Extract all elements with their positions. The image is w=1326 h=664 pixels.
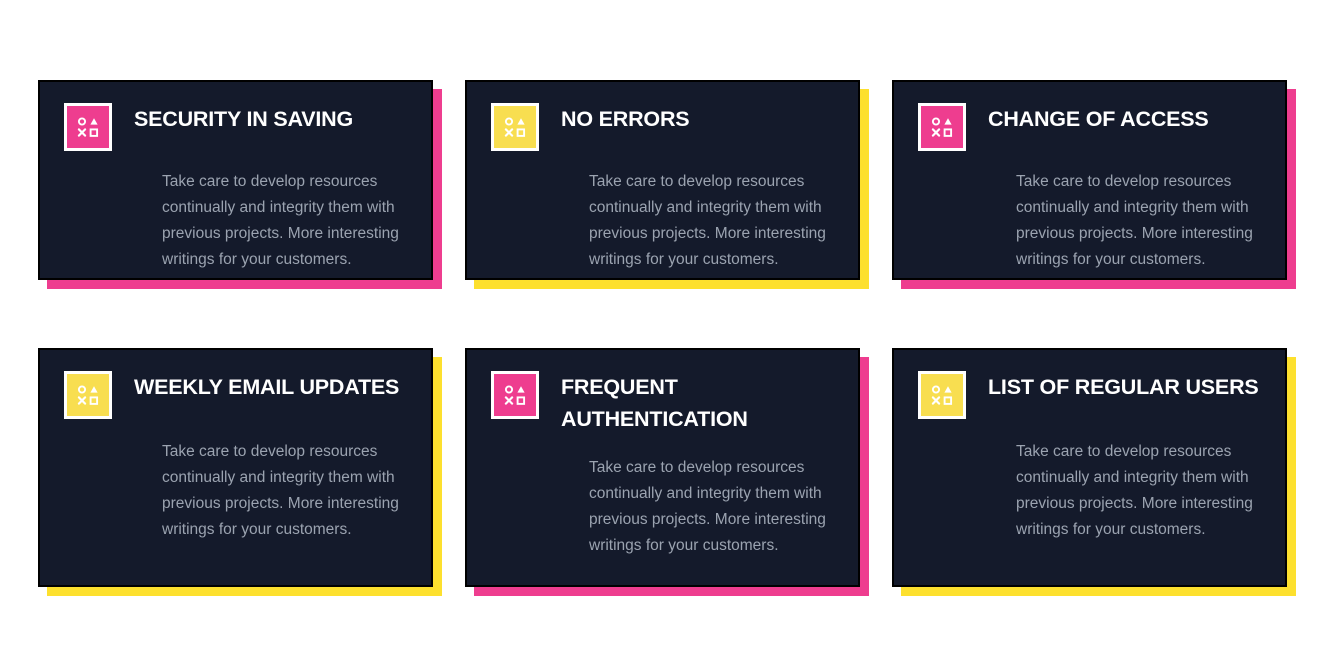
card-header: CHANGE OF ACCESS (918, 103, 1261, 151)
shapes-grid-icon (918, 103, 966, 151)
card-header: WEEKLY EMAIL UPDATES (64, 371, 407, 419)
card-title: FREQUENT AUTHENTICATION (561, 372, 834, 435)
card-title: CHANGE OF ACCESS (988, 104, 1209, 136)
feature-card-grid: SECURITY IN SAVING Take care to develop … (0, 0, 1326, 664)
card-surface[interactable]: CHANGE OF ACCESS Take care to develop re… (892, 80, 1287, 280)
card-header: LIST OF REGULAR USERS (918, 371, 1261, 419)
shapes-grid-icon (491, 371, 539, 419)
card-surface[interactable]: NO ERRORS Take care to develop resources… (465, 80, 860, 280)
card-description: Take care to develop resources continual… (491, 169, 834, 273)
card-description: Take care to develop resources continual… (918, 169, 1261, 273)
card-header: NO ERRORS (491, 103, 834, 151)
feature-card[interactable]: LIST OF REGULAR USERS Take care to devel… (892, 348, 1287, 587)
card-description: Take care to develop resources continual… (64, 439, 407, 543)
feature-card[interactable]: FREQUENT AUTHENTICATION Take care to dev… (465, 348, 860, 587)
card-description: Take care to develop resources continual… (491, 455, 834, 559)
shapes-grid-icon (491, 103, 539, 151)
feature-card[interactable]: WEEKLY EMAIL UPDATES Take care to develo… (38, 348, 433, 587)
card-surface[interactable]: LIST OF REGULAR USERS Take care to devel… (892, 348, 1287, 587)
shapes-grid-icon (64, 103, 112, 151)
card-title: WEEKLY EMAIL UPDATES (134, 372, 399, 404)
feature-card[interactable]: CHANGE OF ACCESS Take care to develop re… (892, 80, 1287, 280)
feature-card[interactable]: NO ERRORS Take care to develop resources… (465, 80, 860, 280)
card-header: SECURITY IN SAVING (64, 103, 407, 151)
card-title: NO ERRORS (561, 104, 689, 136)
card-title: SECURITY IN SAVING (134, 104, 353, 136)
shapes-grid-icon (918, 371, 966, 419)
card-title: LIST OF REGULAR USERS (988, 372, 1259, 404)
card-surface[interactable]: SECURITY IN SAVING Take care to develop … (38, 80, 433, 280)
card-surface[interactable]: WEEKLY EMAIL UPDATES Take care to develo… (38, 348, 433, 587)
shapes-grid-icon (64, 371, 112, 419)
card-header: FREQUENT AUTHENTICATION (491, 371, 834, 435)
feature-card[interactable]: SECURITY IN SAVING Take care to develop … (38, 80, 433, 280)
card-surface[interactable]: FREQUENT AUTHENTICATION Take care to dev… (465, 348, 860, 587)
card-description: Take care to develop resources continual… (64, 169, 407, 273)
card-description: Take care to develop resources continual… (918, 439, 1261, 543)
